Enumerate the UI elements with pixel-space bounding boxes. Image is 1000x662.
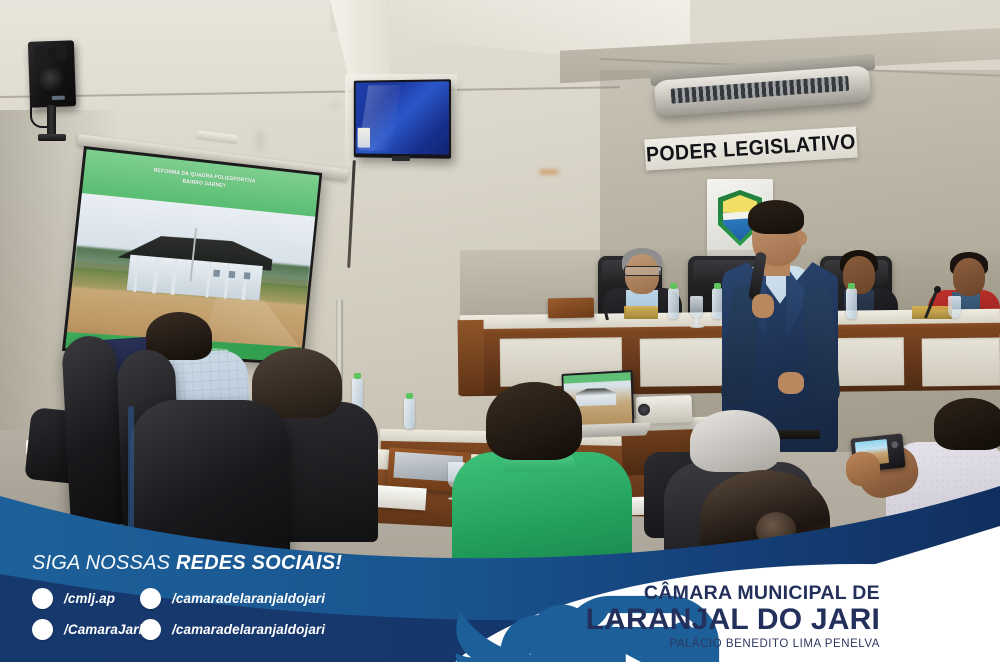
pa-speaker-icon (28, 40, 76, 108)
audience-chair (130, 400, 290, 562)
presenter-hand-lower (778, 372, 804, 394)
slide-window (229, 271, 236, 278)
tv-label-sticker (358, 128, 370, 148)
wall-mark (255, 130, 265, 152)
wall-mark (330, 102, 339, 109)
audience-hair (934, 398, 1000, 450)
water-bottle (668, 288, 679, 319)
laptop-slide-building (575, 387, 616, 406)
speaker-horn-left (34, 46, 44, 60)
glass-foot (690, 325, 704, 328)
audience-hand (846, 452, 880, 486)
drinking-glass (690, 296, 703, 318)
presenter-hair (748, 200, 804, 234)
water-bottle (712, 288, 723, 319)
slide-window (244, 272, 251, 279)
microphone-head (934, 286, 941, 293)
eyeglasses-icon (624, 266, 662, 276)
presenter-hand-holding-mic (752, 294, 774, 318)
official-head (953, 258, 985, 296)
presenter-ear (798, 232, 807, 245)
camera-button (891, 441, 899, 449)
speaker-woofer (38, 67, 67, 96)
speaker-mount-pole (47, 105, 56, 137)
drinking-glass (948, 296, 961, 318)
ac-indicator-light (540, 170, 558, 174)
water-bottle (846, 288, 857, 319)
speaker-badge (52, 96, 65, 100)
projector-lens (638, 403, 650, 415)
speaker-mount-base (38, 134, 66, 141)
desk-nameplate (624, 306, 658, 319)
speaker-horn-right (56, 45, 66, 59)
speaker-tweeter (47, 48, 56, 57)
wall-television (354, 79, 451, 159)
desk-nameplate (912, 306, 952, 319)
audience-hair (486, 382, 582, 460)
council-session-photo: PODER LEGISLATIVO (0, 0, 1000, 662)
dais-side-panel (458, 320, 485, 395)
laptop-slide-band (563, 372, 630, 384)
hair-bun (756, 512, 796, 548)
tv-mount-foot (392, 156, 410, 161)
audience-hair (690, 410, 780, 472)
chair-trim (128, 406, 134, 556)
desk-wooden-tray (548, 298, 594, 319)
screenshot-root: PODER LEGISLATIVO (0, 0, 1000, 662)
audience-chair (61, 335, 125, 528)
video-projector-icon (636, 395, 693, 424)
slide-window (213, 269, 220, 276)
ac-vent-grille (671, 76, 850, 104)
dais-front-panel (922, 338, 1000, 387)
water-bottle (404, 398, 415, 429)
